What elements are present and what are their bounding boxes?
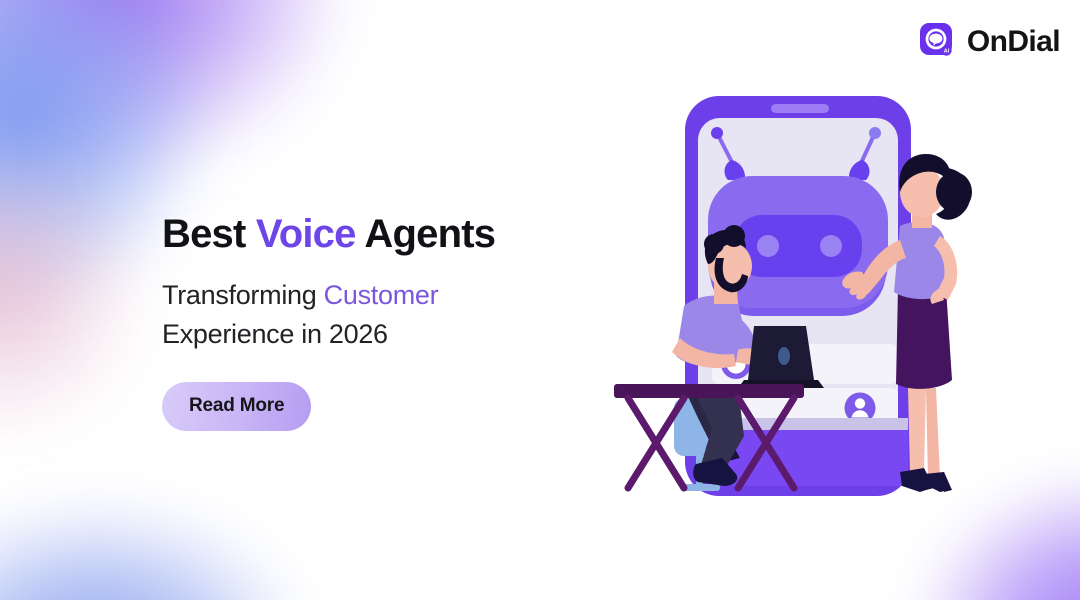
background-blob-bottom-left-blue <box>0 500 310 600</box>
subhead-line1-before: Transforming <box>162 280 324 310</box>
background-blob-mid-left-pink <box>0 140 150 440</box>
svg-text:AI: AI <box>944 49 950 55</box>
hero-illustration <box>588 88 1008 513</box>
subhead-accent: Customer <box>324 280 439 310</box>
headline-before: Best <box>162 212 256 256</box>
hero-copy: Best Voice Agents Transforming CustomerE… <box>162 212 592 431</box>
read-more-button[interactable]: Read More <box>162 382 311 431</box>
promo-banner: AI OnDial Best Voice Agents Transforming… <box>0 0 1080 600</box>
subhead-line2: Experience in 2026 <box>162 319 388 349</box>
background-blob-top-left-purple <box>0 0 350 180</box>
brand-logo[interactable]: AI OnDial <box>920 23 1060 61</box>
hero-subtitle: Transforming CustomerExperience in 2026 <box>162 276 592 355</box>
page-title: Best Voice Agents <box>162 212 592 257</box>
headline-accent: Voice <box>256 212 356 256</box>
speech-bubble-logo-icon: AI <box>920 23 958 61</box>
headline-after: Agents <box>356 212 496 256</box>
brand-name: OnDial <box>967 27 1060 57</box>
